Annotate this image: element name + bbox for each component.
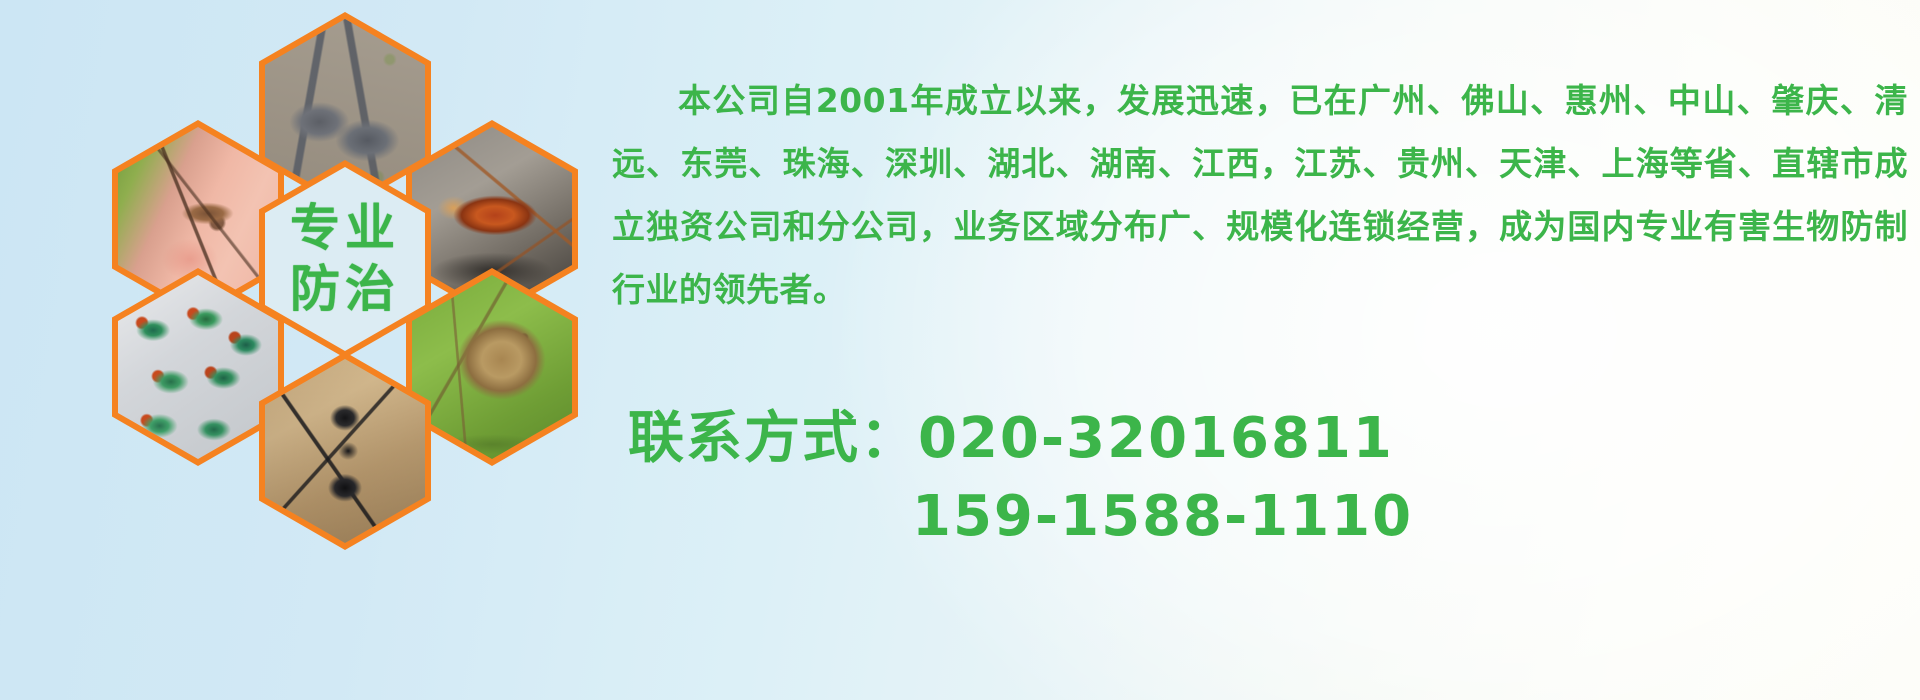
center-label-line-1: 专业 (290, 198, 400, 259)
company-intro-paragraph: 本公司自2001年成立以来，发展迅速，已在广州、佛山、惠州、中山、肇庆、清远、东… (612, 69, 1908, 321)
hex-cell-ant[interactable] (259, 352, 431, 550)
honeycomb-cluster: 专业 防治 (86, 0, 606, 552)
hex-inner: 专业 防治 (265, 167, 425, 351)
ant-photo (265, 359, 425, 543)
hex-inner (412, 275, 572, 459)
hex-inner (265, 359, 425, 543)
hex-cell-flies[interactable] (112, 268, 284, 466)
stinkbug-photo (412, 275, 572, 459)
contact-primary-line[interactable]: 联系方式：020-32016811 (612, 400, 1908, 478)
hex-cell-stinkbug[interactable] (406, 268, 578, 466)
flies-photo (118, 275, 278, 459)
hex-cell-center: 专业 防治 (259, 160, 431, 358)
contact-secondary-line[interactable]: 159-1588-1110 (612, 478, 1908, 556)
hex-inner (118, 275, 278, 459)
center-label-line-2: 防治 (290, 259, 400, 320)
contact-block: 联系方式：020-32016811 159-1588-1110 (612, 400, 1908, 556)
content-column: 本公司自2001年成立以来，发展迅速，已在广州、佛山、惠州、中山、肇庆、清远、东… (612, 0, 1912, 700)
honeycomb-center-label: 专业 防治 (265, 167, 425, 351)
promo-banner: 专业 防治 本公司自2001年成立以来，发展迅速，已在广州、佛山、惠州、中 (0, 0, 1920, 700)
